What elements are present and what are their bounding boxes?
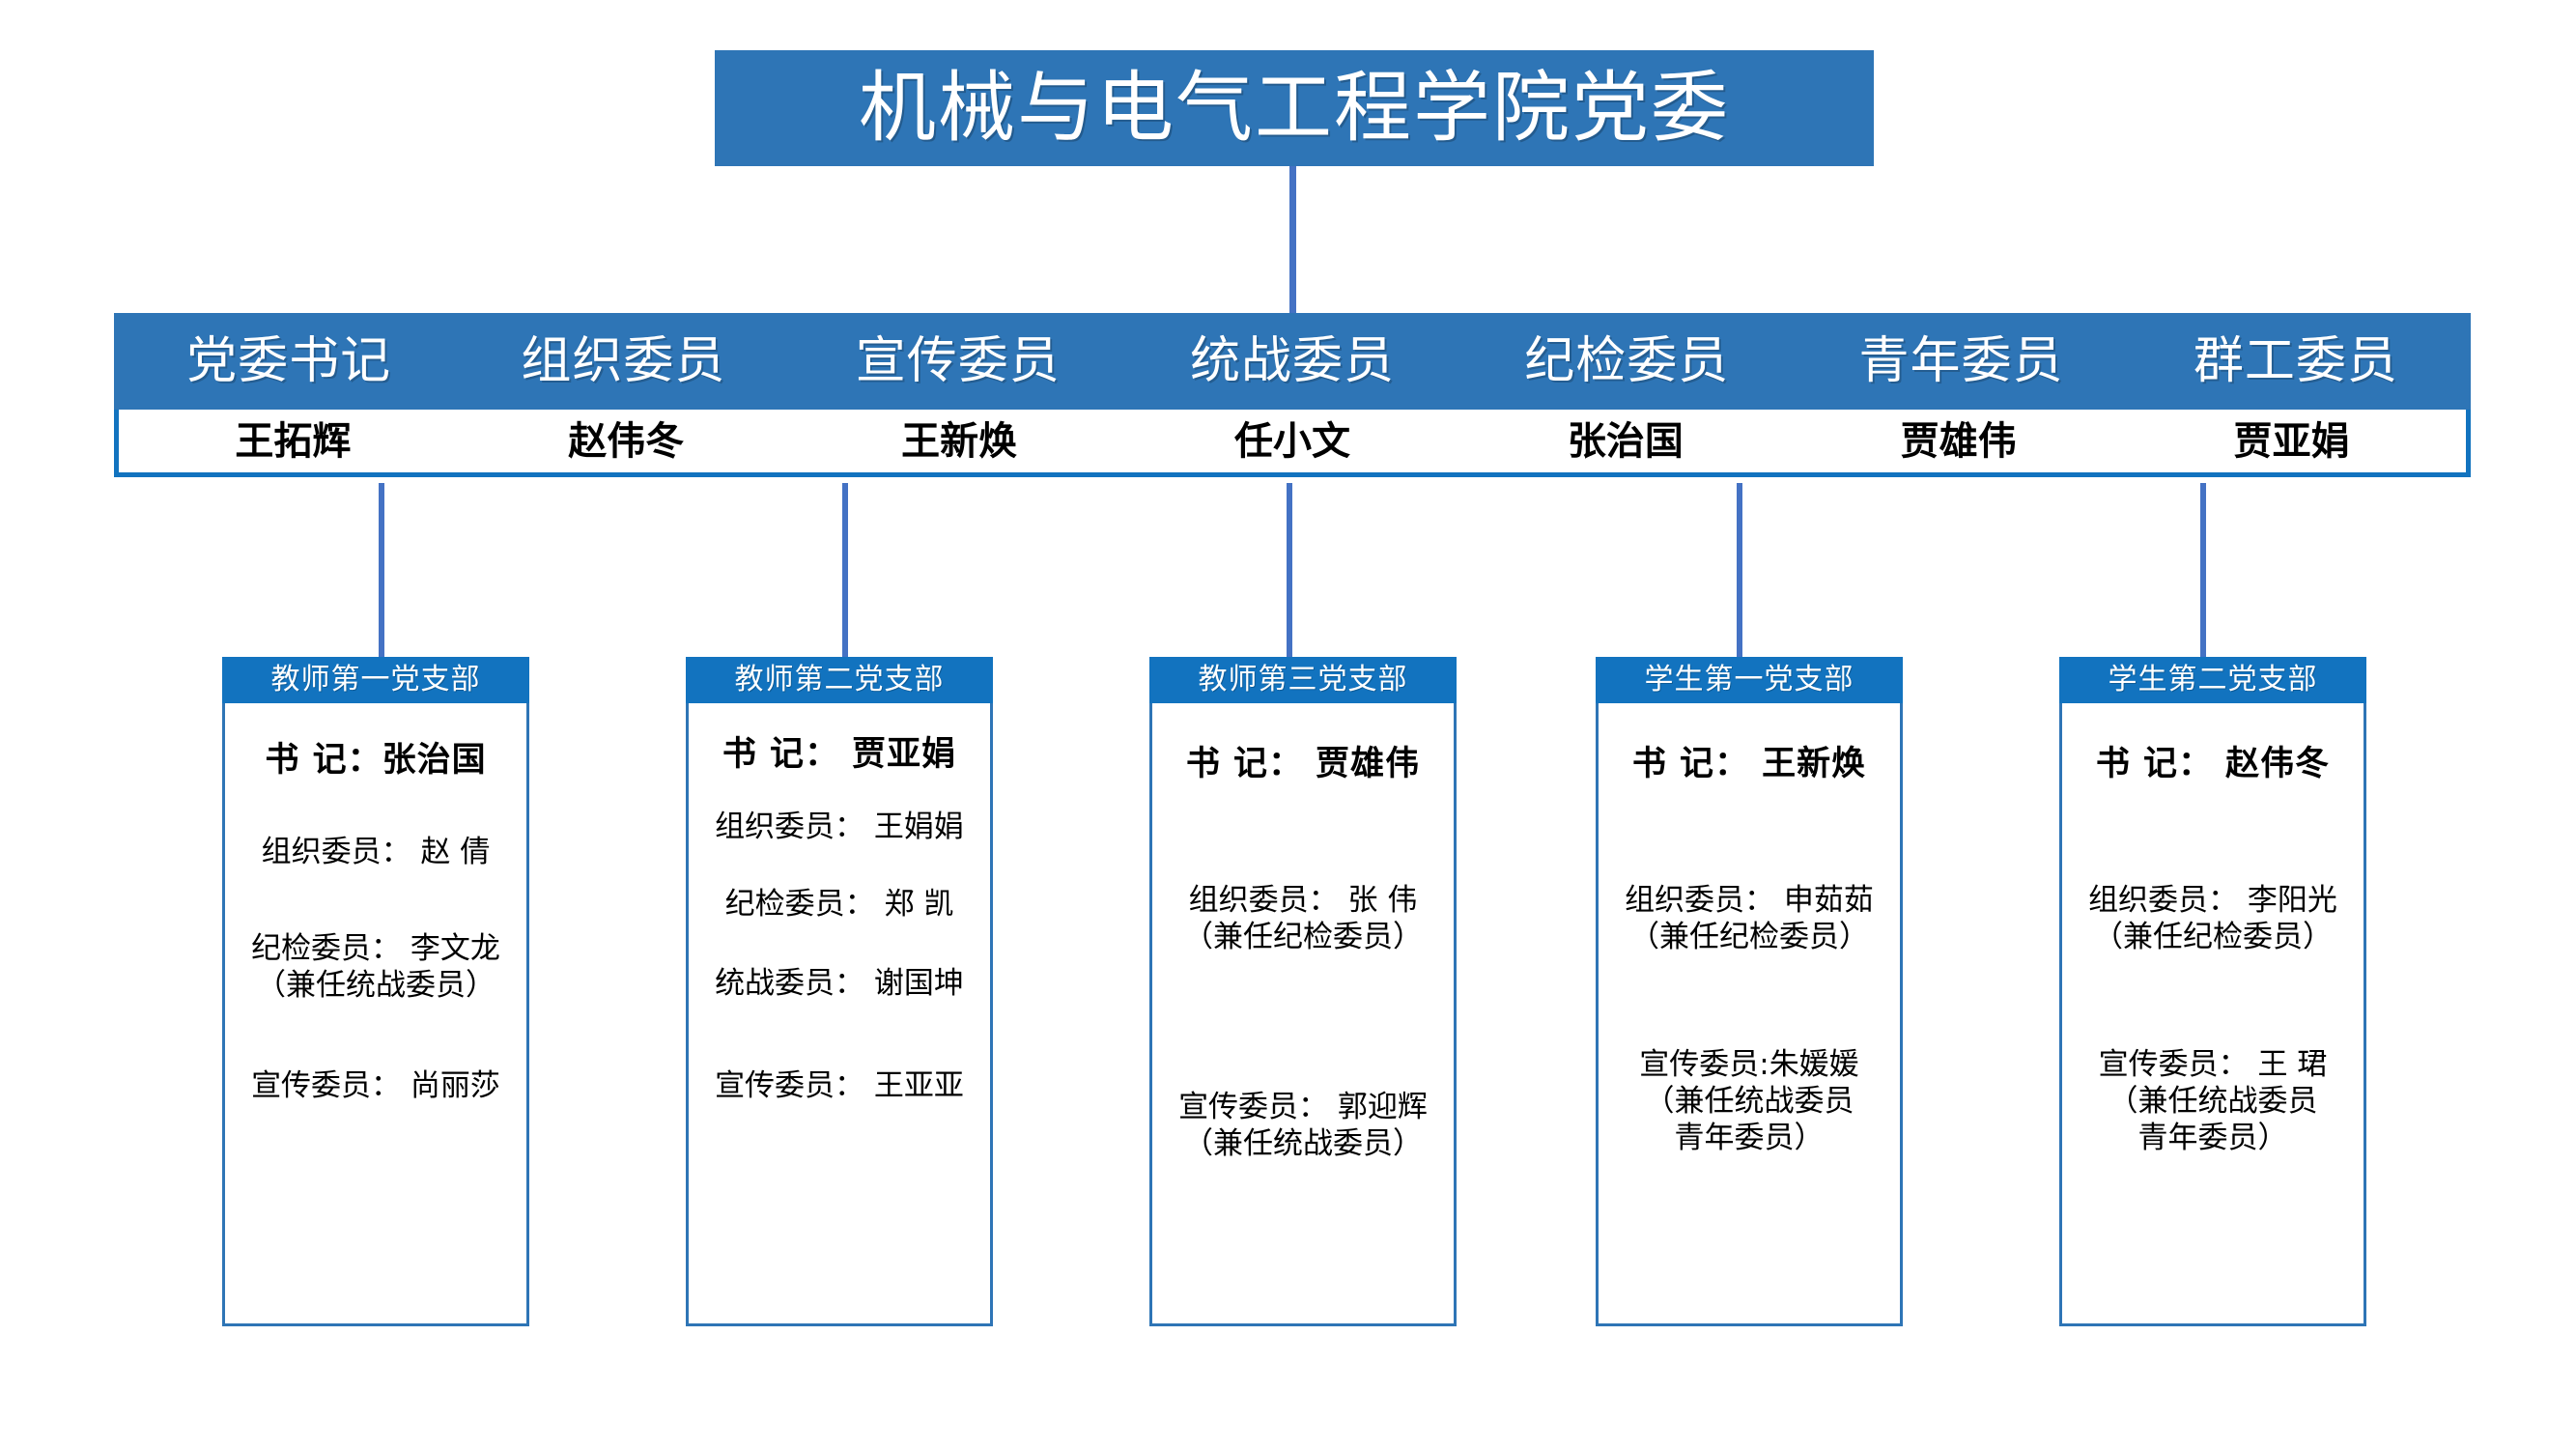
branch-body-0: 书 记：张治国 组织委员： 赵 倩 纪检委员： 李文龙 （兼任统战委员） 宣传委… <box>222 703 529 1326</box>
branch-body-1: 书 记： 贾亚娟 组织委员： 王娟娟 纪检委员： 郑 凯 统战委员： 谢国坤 宣… <box>686 703 993 1326</box>
root-title: 机械与电气工程学院党委 <box>859 70 1730 147</box>
branch-connector-2 <box>1287 483 1292 659</box>
committee-role-1: 组织委员 <box>456 336 790 386</box>
branch-title-2: 教师第三党支部 <box>1199 666 1408 695</box>
branch-member-2-1: 宣传委员： 郭迎辉 （兼任统战委员） <box>1152 1090 1454 1163</box>
committee-role-2: 宣传委员 <box>791 336 1125 386</box>
branch-title-3: 学生第一党支部 <box>1645 666 1854 695</box>
committee-name-3: 任小文 <box>1126 422 1459 461</box>
branch-connector-4 <box>2200 483 2206 659</box>
committee-role-0: 党委书记 <box>122 336 456 386</box>
trunk-connector <box>1289 166 1296 313</box>
branch-title-1: 教师第二党支部 <box>735 666 945 695</box>
branch-card-1: 教师第二党支部 书 记： 贾亚娟 组织委员： 王娟娟 纪检委员： 郑 凯 统战委… <box>686 657 993 1326</box>
committee-role-4: 纪检委员 <box>1459 336 1794 386</box>
branch-card-4: 学生第二党支部 书 记： 赵伟冬 组织委员： 李阳光 （兼任纪检委员） 宣传委员… <box>2059 657 2366 1326</box>
branch-secretary-1: 书 记： 贾亚娟 <box>689 734 990 776</box>
org-chart-canvas: 机械与电气工程学院党委 党委书记 组织委员 宣传委员 统战委员 纪检委员 青年委… <box>0 0 2576 1449</box>
committee-name-6: 贾亚娟 <box>2125 422 2458 461</box>
root-node: 机械与电气工程学院党委 <box>715 50 1874 166</box>
branch-body-4: 书 记： 赵伟冬 组织委员： 李阳光 （兼任纪检委员） 宣传委员： 王 珺 （兼… <box>2059 703 2366 1326</box>
committee-bar: 党委书记 组织委员 宣传委员 统战委员 纪检委员 青年委员 群工委员 王拓辉 赵… <box>114 313 2471 477</box>
branch-body-3: 书 记： 王新焕 组织委员： 申茹茹 （兼任纪检委员） 宣传委员:朱媛媛 （兼任… <box>1596 703 1903 1326</box>
branch-secretary-4: 书 记： 赵伟冬 <box>2062 744 2364 785</box>
branch-connector-0 <box>379 483 384 659</box>
branch-secretary-2: 书 记： 贾雄伟 <box>1152 744 1454 785</box>
branch-header-3: 学生第一党支部 <box>1596 657 1903 703</box>
branch-member-0-2: 宣传委员： 尚丽莎 <box>225 1068 526 1105</box>
committee-name-0: 王拓辉 <box>127 422 460 461</box>
branch-member-4-1: 宣传委员： 王 珺 （兼任统战委员 青年委员） <box>2062 1047 2364 1156</box>
committee-name-1: 赵伟冬 <box>460 422 793 461</box>
committee-name-2: 王新焕 <box>793 422 1126 461</box>
committee-name-4: 张治国 <box>1458 422 1792 461</box>
branch-secretary-0: 书 记：张治国 <box>225 740 526 781</box>
branch-connector-1 <box>842 483 848 659</box>
branch-header-0: 教师第一党支部 <box>222 657 529 703</box>
branch-header-4: 学生第二党支部 <box>2059 657 2366 703</box>
committee-roles-row: 党委书记 组织委员 宣传委员 统战委员 纪检委员 青年委员 群工委员 <box>114 313 2471 410</box>
committee-names-row: 王拓辉 赵伟冬 王新焕 任小文 张治国 贾雄伟 贾亚娟 <box>114 410 2471 477</box>
branch-member-4-0: 组织委员： 李阳光 （兼任纪检委员） <box>2062 883 2364 956</box>
branch-member-3-1: 宣传委员:朱媛媛 （兼任统战委员 青年委员） <box>1599 1047 1900 1156</box>
branch-member-3-0: 组织委员： 申茹茹 （兼任纪检委员） <box>1599 883 1900 956</box>
branch-card-0: 教师第一党支部 书 记：张治国 组织委员： 赵 倩 纪检委员： 李文龙 （兼任统… <box>222 657 529 1326</box>
branch-title-4: 学生第二党支部 <box>2109 666 2318 695</box>
branch-header-2: 教师第三党支部 <box>1149 657 1457 703</box>
branch-header-1: 教师第二党支部 <box>686 657 993 703</box>
committee-name-5: 贾雄伟 <box>1792 422 2125 461</box>
branch-member-0-1: 纪检委员： 李文龙 （兼任统战委员） <box>225 931 526 1005</box>
branch-card-2: 教师第三党支部 书 记： 贾雄伟 组织委员： 张 伟 （兼任纪检委员） 宣传委员… <box>1149 657 1457 1326</box>
branch-secretary-3: 书 记： 王新焕 <box>1599 744 1900 785</box>
committee-role-5: 青年委员 <box>1794 336 2128 386</box>
branch-card-3: 学生第一党支部 书 记： 王新焕 组织委员： 申茹茹 （兼任纪检委员） 宣传委员… <box>1596 657 1903 1326</box>
branch-title-0: 教师第一党支部 <box>271 666 481 695</box>
branch-member-1-3: 宣传委员： 王亚亚 <box>689 1068 990 1105</box>
branch-member-2-0: 组织委员： 张 伟 （兼任纪检委员） <box>1152 883 1454 956</box>
branch-body-2: 书 记： 贾雄伟 组织委员： 张 伟 （兼任纪检委员） 宣传委员： 郭迎辉 （兼… <box>1149 703 1457 1326</box>
branch-connector-3 <box>1737 483 1742 659</box>
branch-member-1-0: 组织委员： 王娟娟 <box>689 810 990 846</box>
branch-member-0-0: 组织委员： 赵 倩 <box>225 835 526 871</box>
branch-member-1-2: 统战委员： 谢国坤 <box>689 966 990 1003</box>
committee-role-3: 统战委员 <box>1125 336 1459 386</box>
branch-member-1-1: 纪检委员： 郑 凯 <box>689 887 990 923</box>
committee-role-6: 群工委员 <box>2129 336 2463 386</box>
